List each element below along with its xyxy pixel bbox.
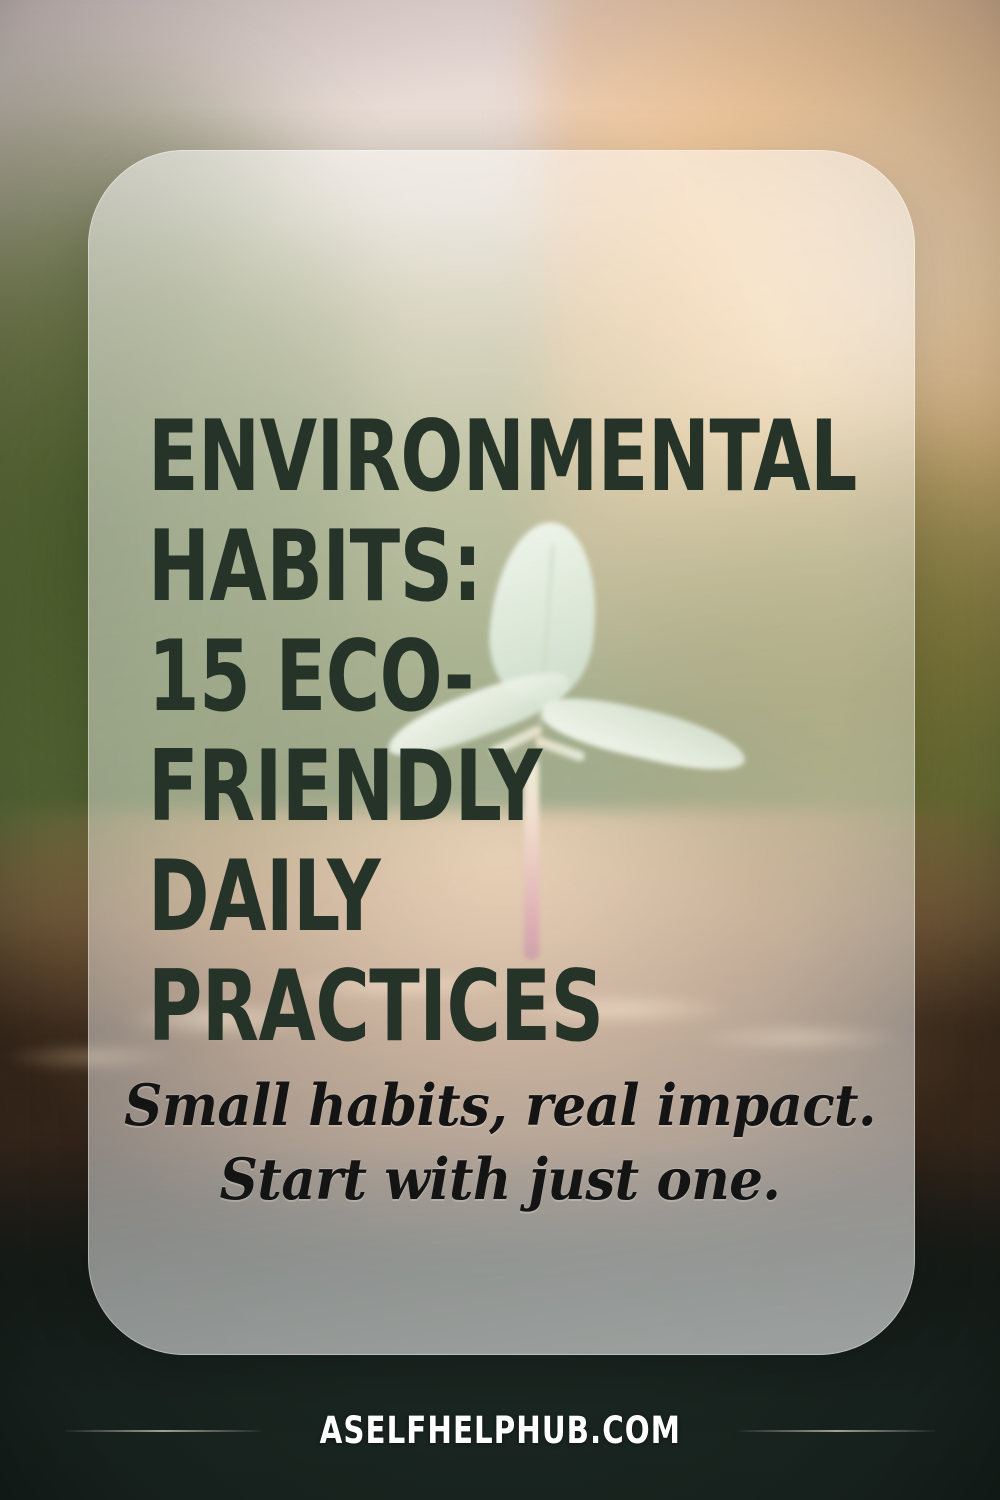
page-subtitle: Small habits, real impact. Start with ju… <box>35 1069 965 1217</box>
footer-rule-right <box>739 1430 935 1432</box>
footer-bar: ASELFHELPHUB.COM <box>0 1409 1000 1452</box>
footer-rule-left <box>65 1430 261 1432</box>
page-title: ENVIRONMENTAL HABITS: 15 ECO-FRIENDLY DA… <box>148 402 770 1062</box>
poster-canvas: ENVIRONMENTAL HABITS: 15 ECO-FRIENDLY DA… <box>0 0 1000 1500</box>
footer-website-label: ASELFHELPHUB.COM <box>319 1409 680 1452</box>
